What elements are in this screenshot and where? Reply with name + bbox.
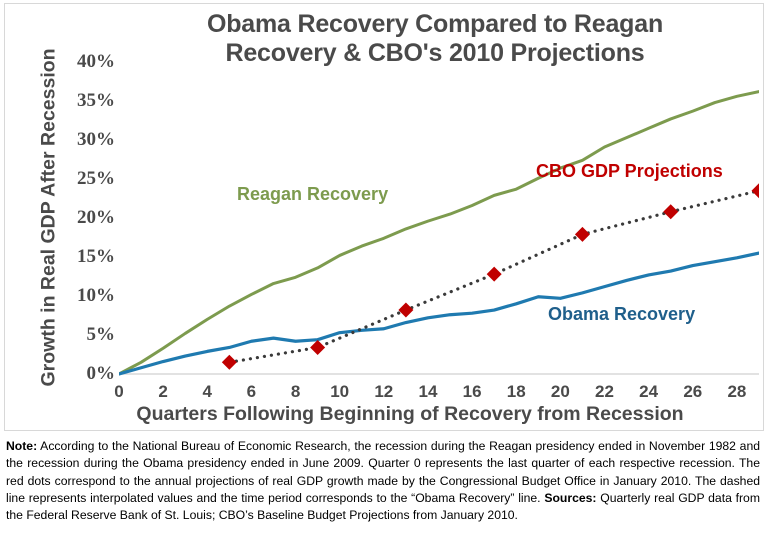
chart-page: Obama Recovery Compared to Reagan Recove…	[0, 0, 768, 541]
chart-title: Obama Recovery Compared to Reagan Recove…	[125, 10, 745, 68]
x-tick-label: 2	[143, 382, 183, 402]
x-tick-label: 6	[231, 382, 271, 402]
x-tick-label: 14	[408, 382, 448, 402]
y-tick-label: 30%	[55, 129, 115, 151]
cbo-projection-marker	[398, 303, 413, 318]
y-tick-label: 25%	[55, 168, 115, 190]
y-tick-label: 35%	[55, 90, 115, 112]
footnote: Note: According to the National Bureau o…	[4, 438, 762, 525]
y-tick-label: 5%	[55, 324, 115, 346]
cbo-projection-marker	[222, 355, 237, 370]
x-tick-label: 18	[496, 382, 536, 402]
chart-title-line-1: Obama Recovery Compared to Reagan	[125, 10, 745, 39]
x-tick-label: 12	[364, 382, 404, 402]
chart-card: Obama Recovery Compared to Reagan Recove…	[4, 3, 764, 431]
x-tick-label: 0	[99, 382, 139, 402]
footnote-note-label: Note:	[6, 439, 37, 453]
x-tick-label: 8	[276, 382, 316, 402]
series-line-reagan-recovery	[119, 92, 759, 374]
x-tick-label: 28	[717, 382, 757, 402]
x-tick-label: 10	[320, 382, 360, 402]
series-label-obama-recovery: Obama Recovery	[548, 304, 695, 325]
x-tick-label: 26	[673, 382, 713, 402]
y-tick-label: 10%	[55, 285, 115, 307]
chart-svg	[119, 62, 759, 377]
footnote-sources-label: Sources:	[544, 491, 596, 505]
cbo-projection-marker	[575, 227, 590, 242]
x-axis-title: Quarters Following Beginning of Recovery…	[65, 403, 755, 426]
x-tick-label: 20	[540, 382, 580, 402]
plot-area	[119, 62, 759, 377]
y-axis-tick-labels: 0%5%10%15%20%25%30%35%40%	[49, 62, 115, 377]
x-tick-label: 4	[187, 382, 227, 402]
x-tick-label: 24	[629, 382, 669, 402]
cbo-projection-marker	[487, 267, 502, 282]
x-tick-label: 16	[452, 382, 492, 402]
y-tick-label: 40%	[55, 51, 115, 73]
y-tick-label: 20%	[55, 207, 115, 229]
series-label-cbo-gdp-projections: CBO GDP Projections	[536, 161, 723, 182]
series-label-reagan-recovery: Reagan Recovery	[237, 184, 388, 205]
cbo-projection-marker	[663, 204, 678, 219]
cbo-projection-marker	[310, 340, 325, 355]
y-tick-label: 15%	[55, 246, 115, 268]
x-tick-label: 22	[585, 382, 625, 402]
cbo-projection-marker	[752, 183, 760, 198]
